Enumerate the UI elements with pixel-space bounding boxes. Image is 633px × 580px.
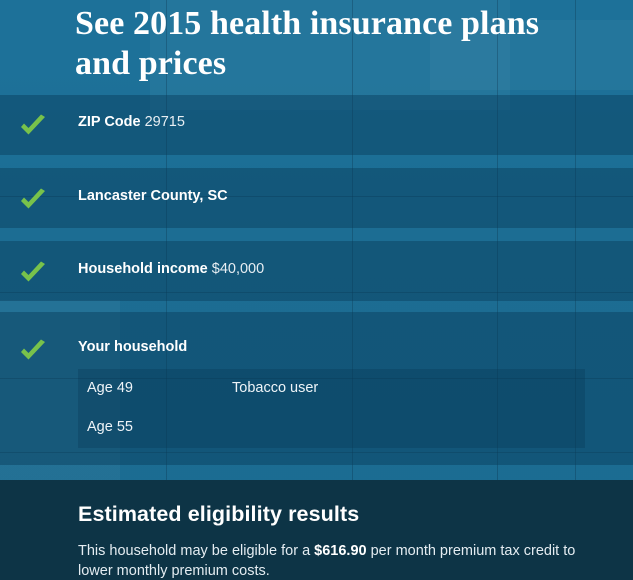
household-members-table: Age 49 Tobacco user Age 55: [78, 369, 585, 448]
income-value: $40,000: [212, 261, 264, 277]
summary-row-label: Household income $40,000: [78, 259, 264, 279]
check-icon: [18, 186, 48, 214]
summary-row-household[interactable]: Your household Age 49 Tobacco user Age 5…: [0, 312, 633, 465]
premium-tax-credit-amount: $616.90: [314, 543, 366, 559]
summary-row-zip[interactable]: ZIP Code 29715: [0, 95, 633, 155]
zip-value: 29715: [145, 114, 185, 130]
check-icon: [18, 259, 48, 287]
summary-row-label: ZIP Code 29715: [78, 112, 185, 132]
member-age: Age 49: [87, 378, 133, 398]
summary-row-county[interactable]: Lancaster County, SC: [0, 168, 633, 228]
check-icon: [18, 112, 48, 140]
table-row: Age 49 Tobacco user: [78, 369, 585, 408]
results-heading: Estimated eligibility results: [78, 500, 603, 528]
title-block: See 2015 health insurance plans and pric…: [0, 0, 633, 95]
summary-row-income[interactable]: Household income $40,000: [0, 241, 633, 301]
zip-label: ZIP Code: [78, 114, 141, 130]
table-row: Age 55: [78, 408, 585, 447]
check-icon: [18, 337, 48, 365]
results-description: This household may be eligible for a $61…: [78, 541, 603, 580]
member-tobacco-status: Tobacco user: [232, 378, 318, 398]
summary-row-label: Lancaster County, SC: [78, 186, 228, 206]
page-title: See 2015 health insurance plans and pric…: [75, 4, 593, 84]
county-label: Lancaster County, SC: [78, 188, 228, 204]
results-text-before: This household may be eligible for a: [78, 543, 314, 559]
household-label: Your household: [78, 339, 187, 355]
income-label: Household income: [78, 261, 208, 277]
member-age: Age 55: [87, 417, 133, 437]
results-panel: Estimated eligibility results This house…: [0, 480, 633, 580]
summary-row-label: Your household: [78, 337, 187, 357]
estimator-page: See 2015 health insurance plans and pric…: [0, 0, 633, 580]
